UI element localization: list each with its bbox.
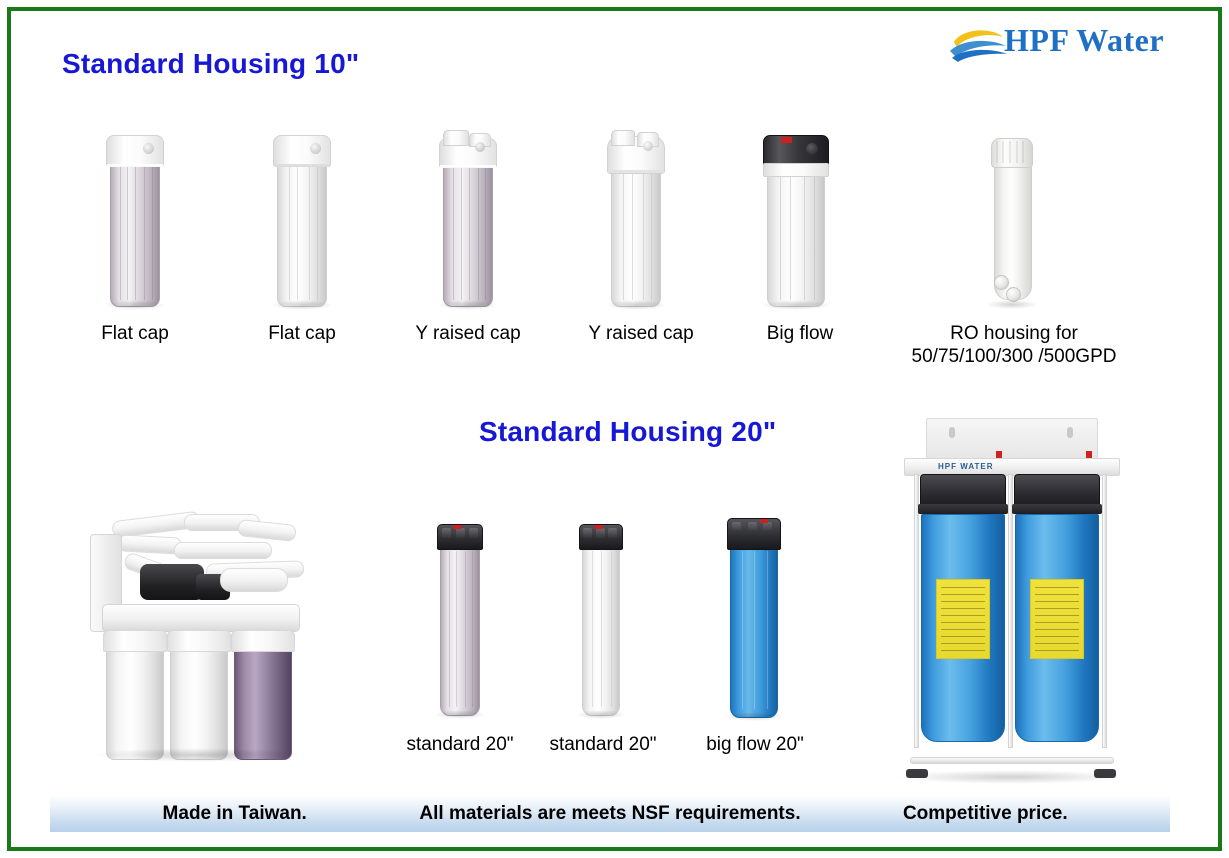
product-caption: big flow 20": [688, 733, 822, 756]
caption-line-2: 50/75/100/300 /500GPD: [900, 345, 1128, 368]
logo-wave-icon: [948, 25, 1010, 65]
product-shadow: [437, 300, 499, 310]
section-title-10: Standard Housing 10": [62, 48, 359, 80]
product-shadow: [434, 710, 486, 719]
pressure-release-button-icon: [760, 519, 768, 523]
product-caption: standard 20": [393, 733, 527, 756]
bigblue-housing: [1014, 474, 1100, 742]
pressure-release-button-icon: [781, 137, 792, 143]
product-caption: Y raised cap: [566, 322, 716, 345]
product-image-standard-20-clear: [440, 524, 480, 716]
product-image-ro-membrane-vessel: [994, 138, 1030, 306]
product-image-flat-cap-clear: [110, 135, 160, 307]
product-caption: standard 20": [536, 733, 670, 756]
footer-bar: Made in Taiwan. All materials are meets …: [50, 795, 1170, 832]
warning-label: [936, 579, 990, 659]
product-shadow: [576, 710, 626, 719]
bigblue-housing: [920, 474, 1006, 742]
pressure-release-button-icon: [453, 525, 462, 529]
footer-nsf-requirements: All materials are meets NSF requirements…: [419, 803, 800, 825]
ro-port-icon: [994, 275, 1009, 290]
pressure-release-button-icon: [594, 525, 603, 529]
product-image-twin-big-blue-stand: HPF WATER: [900, 418, 1122, 778]
product-image-y-raised-cap-clear: [443, 130, 493, 307]
warning-label: [1030, 579, 1084, 659]
bigblue-brand-text: HPF WATER: [938, 462, 994, 471]
product-shadow: [724, 712, 784, 721]
product-caption: Flat cap: [75, 322, 195, 345]
product-image-big-flow: [767, 135, 825, 307]
caption-line-1: RO housing for: [900, 322, 1128, 345]
product-image-standard-20-white: [582, 524, 620, 716]
product-image-ro-system: [88, 512, 306, 760]
product-caption: Flat cap: [242, 322, 362, 345]
hpf-water-logo: HPF Water: [948, 20, 1178, 70]
product-shadow: [986, 300, 1038, 309]
product-image-y-raised-cap-white: [611, 130, 661, 307]
product-shadow: [92, 748, 304, 762]
product-shadow: [761, 300, 831, 310]
product-image-big-flow-20-blue: [730, 518, 778, 718]
product-image-flat-cap-white: [277, 135, 327, 307]
logo-wordmark: HPF Water: [1004, 22, 1164, 59]
section-title-20: Standard Housing 20": [479, 416, 776, 448]
product-shadow: [104, 300, 166, 310]
footer-made-in-taiwan: Made in Taiwan.: [50, 803, 419, 825]
product-shadow: [605, 300, 667, 310]
ro-bowl-purple: [234, 630, 292, 760]
footer-competitive-price: Competitive price.: [801, 803, 1170, 825]
product-caption: Y raised cap: [398, 322, 538, 345]
product-caption-ro-housing: RO housing for 50/75/100/300 /500GPD: [900, 322, 1128, 368]
ro-bowl-white: [106, 630, 164, 760]
product-shadow: [271, 300, 333, 310]
slide: HPF Water Standard Housing 10" Standard …: [0, 0, 1229, 858]
ro-bowl-white: [170, 630, 228, 760]
product-shadow: [896, 770, 1126, 784]
product-caption: Big flow: [740, 322, 860, 345]
